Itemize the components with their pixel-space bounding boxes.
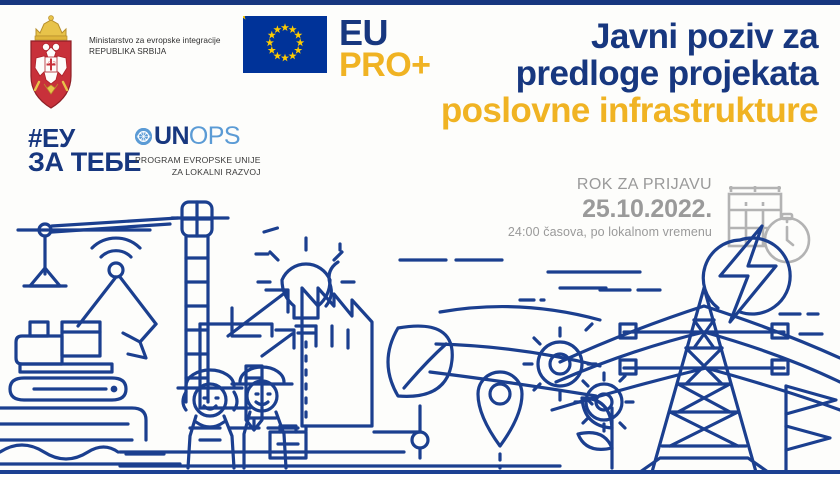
headline-line-3: poslovne infrastrukture [441, 92, 818, 129]
ministry-name: Ministarstvo za evropske integracije [89, 36, 221, 47]
headline-line-2: predloge projekata [441, 55, 818, 92]
eu-flag-icon [243, 16, 327, 73]
unops-wordmark: UNOPS [154, 124, 240, 149]
eu-pro-plus-logo: EU PRO+ [243, 16, 431, 81]
pro-plus-word: PRO+ [339, 50, 431, 81]
top-accent-bar [0, 0, 840, 5]
svg-text:C: C [48, 60, 51, 65]
infrastructure-line-art [0, 196, 840, 480]
unops-subtitle-line2: ZA LOKALNI RAZVOJ [135, 166, 261, 178]
headline-line-1: Javni poziv za [441, 18, 818, 55]
government-logo-block: C Ɔ Ministarstvo za evropske integracije… [22, 14, 221, 112]
poster-canvas: C Ɔ Ministarstvo za evropske integracije… [0, 0, 840, 480]
unops-subtitle: PROGRAM EVROPSKE UNIJE ZA LOKALNI RAZVOJ [135, 154, 261, 179]
eu-for-you-line2: ЗА ТЕБЕ [28, 150, 141, 175]
eu-pro-wordmark: EU PRO+ [339, 16, 431, 81]
svg-text:Ɔ: Ɔ [53, 60, 56, 65]
republic-name: REPUBLIKA SRBIJA [89, 47, 221, 58]
eu-word: EU [339, 16, 431, 49]
deadline-label: ROK ZA PRIJAVU [508, 176, 712, 194]
headline-block: Javni poziv za predloge projekata poslov… [441, 18, 818, 129]
unops-subtitle-line1: PROGRAM EVROPSKE UNIJE [135, 154, 261, 166]
un-emblem-icon [135, 128, 152, 145]
eu-for-you-logo: #ЕУ ЗА ТЕБЕ [28, 126, 141, 176]
serbian-coat-of-arms-icon: C Ɔ [22, 14, 80, 112]
unops-logo: UNOPS PROGRAM EVROPSKE UNIJE ZA LOKALNI … [135, 124, 261, 179]
ministry-text-block: Ministarstvo za evropske integracije REP… [89, 14, 221, 58]
unops-ops: OPS [189, 122, 240, 150]
unops-un: UN [154, 122, 189, 150]
